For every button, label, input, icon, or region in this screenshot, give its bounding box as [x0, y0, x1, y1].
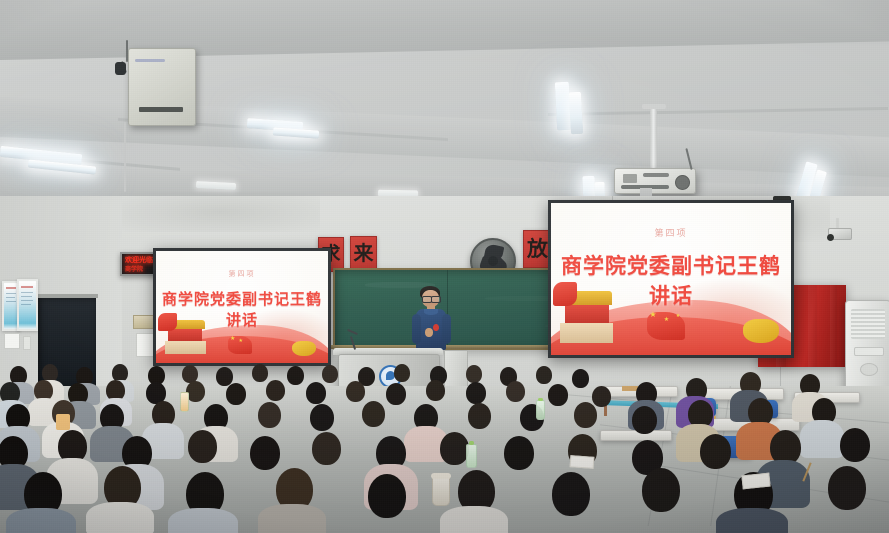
left-projection-screen[interactable]: ★ ★ 第四项 商学院党委副书记王鹤讲话	[153, 248, 331, 366]
wall-notice-1	[4, 333, 20, 349]
left-slide-title: 商学院党委副书记王鹤讲话	[156, 288, 328, 330]
lecture-hall-photo: 求 来 放	[0, 0, 889, 533]
notebook-2	[570, 455, 595, 469]
notebook-1	[741, 473, 770, 490]
right-slide: ★ ★ ★ 第四项 商学院党委副书记王鹤讲话	[551, 203, 791, 355]
led-sign-line2: 商学院	[125, 264, 143, 273]
drink-bottle-3	[180, 392, 189, 412]
ceiling-projector-main	[614, 168, 696, 194]
slide-gold-ornament-left	[292, 341, 316, 357]
left-slide: ★ ★ 第四项 商学院党委副书记王鹤讲话	[156, 251, 328, 363]
snack-bag	[56, 414, 70, 430]
door-header	[36, 294, 98, 298]
wall-poster-right	[17, 279, 38, 331]
projector-mount-pole	[650, 108, 657, 170]
calligraphy-placard-2: 来	[350, 236, 377, 272]
slide-gold-ornament-right	[743, 319, 779, 343]
speaker	[405, 286, 455, 350]
speaker-badge	[433, 324, 439, 331]
camera-lens	[827, 234, 834, 241]
tube-light-8	[569, 92, 583, 135]
electrical-box	[128, 48, 196, 126]
coffee-cup	[432, 476, 450, 506]
right-projection-screen[interactable]: ★ ★ ★ 第四项 商学院党委副书记王鹤讲话	[548, 200, 794, 358]
projector-ceiling-plate	[642, 104, 666, 109]
light-switch	[23, 336, 31, 350]
right-slide-title: 商学院党委副书记王鹤讲话	[551, 250, 791, 310]
wall-socket-ceiling	[115, 62, 126, 75]
conduit-drop	[124, 122, 126, 192]
water-bottle-2	[466, 444, 477, 468]
side-cabinet	[444, 350, 468, 390]
wall-notice-2	[136, 333, 154, 357]
water-bottle-1	[536, 400, 545, 420]
right-slide-eyebrow: 第四项	[551, 226, 791, 239]
ceiling-wire-1	[126, 40, 128, 62]
left-slide-eyebrow: 第四项	[156, 269, 328, 279]
projector-lens	[675, 175, 690, 190]
